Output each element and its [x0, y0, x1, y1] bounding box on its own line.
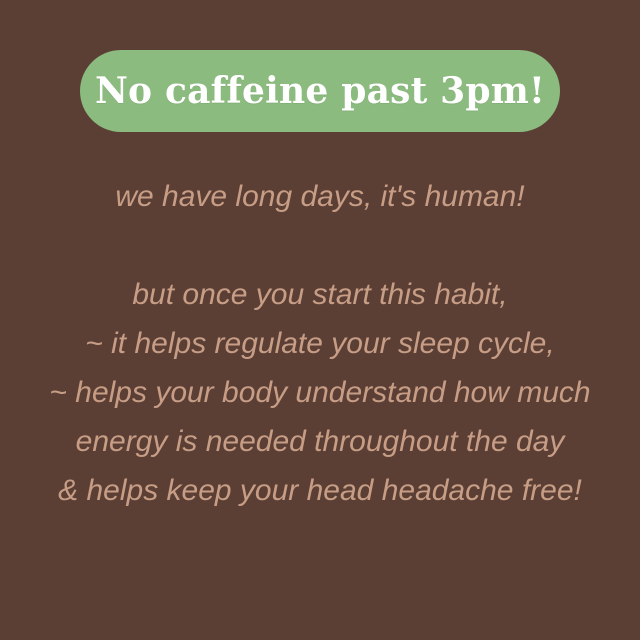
body-line: we have long days, it's human!: [0, 172, 640, 221]
headline-text: No caffeine past 3pm!: [95, 73, 545, 109]
body-line: energy is needed throughout the day: [0, 417, 640, 466]
body-line: but once you start this habit,: [0, 270, 640, 319]
body-line: ~ helps your body understand how much: [0, 368, 640, 417]
headline-pill: No caffeine past 3pm!: [80, 50, 560, 132]
body-text-block: we have long days, it's human! but once …: [0, 172, 640, 515]
body-line-spacer: [0, 221, 640, 270]
poster-canvas: No caffeine past 3pm! we have long days,…: [0, 0, 640, 640]
body-line: & helps keep your head headache free!: [0, 466, 640, 515]
body-line: ~ it helps regulate your sleep cycle,: [0, 319, 640, 368]
